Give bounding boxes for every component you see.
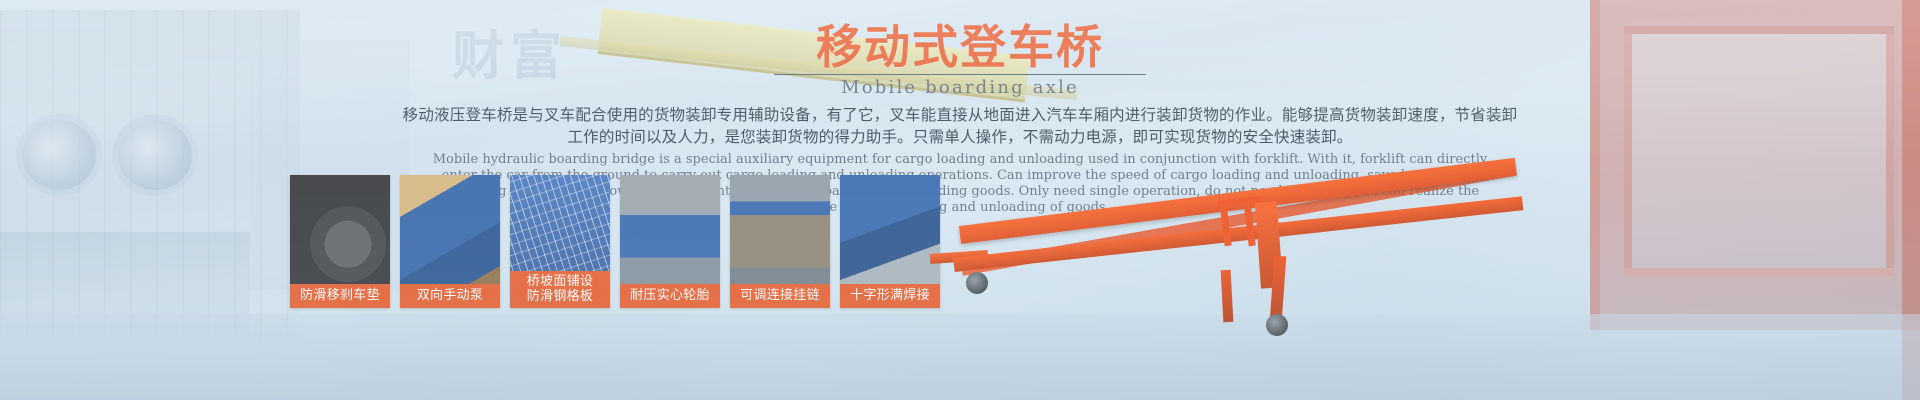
description-chinese: 移动液压登车桥是与叉车配合使用的货物装卸专用辅助设备，有了它，叉车能直接从地面进… bbox=[395, 104, 1525, 148]
feature-label: 耐压实心轮胎 bbox=[620, 284, 720, 308]
headline-block: 移动式登车桥 Mobile boarding axle bbox=[0, 22, 1920, 98]
feature-label-line-1: 桥坡面铺设 bbox=[512, 274, 608, 289]
page-subtitle: Mobile boarding axle bbox=[774, 77, 1146, 98]
feature-thumbnail[interactable]: 双向手动泵 bbox=[400, 175, 500, 308]
ramp-wheel-front bbox=[966, 272, 988, 294]
feature-label: 双向手动泵 bbox=[400, 284, 500, 308]
feature-label: 桥坡面铺设 防滑钢格板 bbox=[510, 271, 610, 308]
feature-thumbnail[interactable]: 可调连接挂链 bbox=[730, 175, 830, 308]
feature-thumbnail-list: 防滑移刹车垫 双向手动泵 桥坡面铺设 防滑钢格板 耐压实心轮胎 可调连接挂链 十… bbox=[290, 175, 940, 308]
feature-thumbnail[interactable]: 十字形满焊接 bbox=[840, 175, 940, 308]
feature-label-line-2: 防滑钢格板 bbox=[512, 289, 608, 304]
feature-label: 防滑移刹车垫 bbox=[290, 284, 390, 308]
mobile-boarding-ramp-photo bbox=[930, 196, 1610, 346]
feature-thumbnail[interactable]: 耐压实心轮胎 bbox=[620, 175, 720, 308]
feature-label: 可调连接挂链 bbox=[730, 284, 830, 308]
ramp-wheel-rear bbox=[1266, 314, 1288, 336]
feature-thumbnail[interactable]: 桥坡面铺设 防滑钢格板 bbox=[510, 175, 610, 308]
feature-thumbnail[interactable]: 防滑移刹车垫 bbox=[290, 175, 390, 308]
feature-label: 十字形满焊接 bbox=[840, 284, 940, 308]
background-reel-one bbox=[22, 120, 96, 190]
product-banner: 财富 移动式登车桥 Mobile boarding axle 移动液压登车桥是与… bbox=[0, 0, 1920, 400]
background-reel-two bbox=[118, 120, 192, 190]
ramp-support-leg-front bbox=[1221, 270, 1234, 322]
page-title: 移动式登车桥 bbox=[0, 22, 1920, 72]
subtitle-rule: Mobile boarding axle bbox=[774, 74, 1146, 98]
